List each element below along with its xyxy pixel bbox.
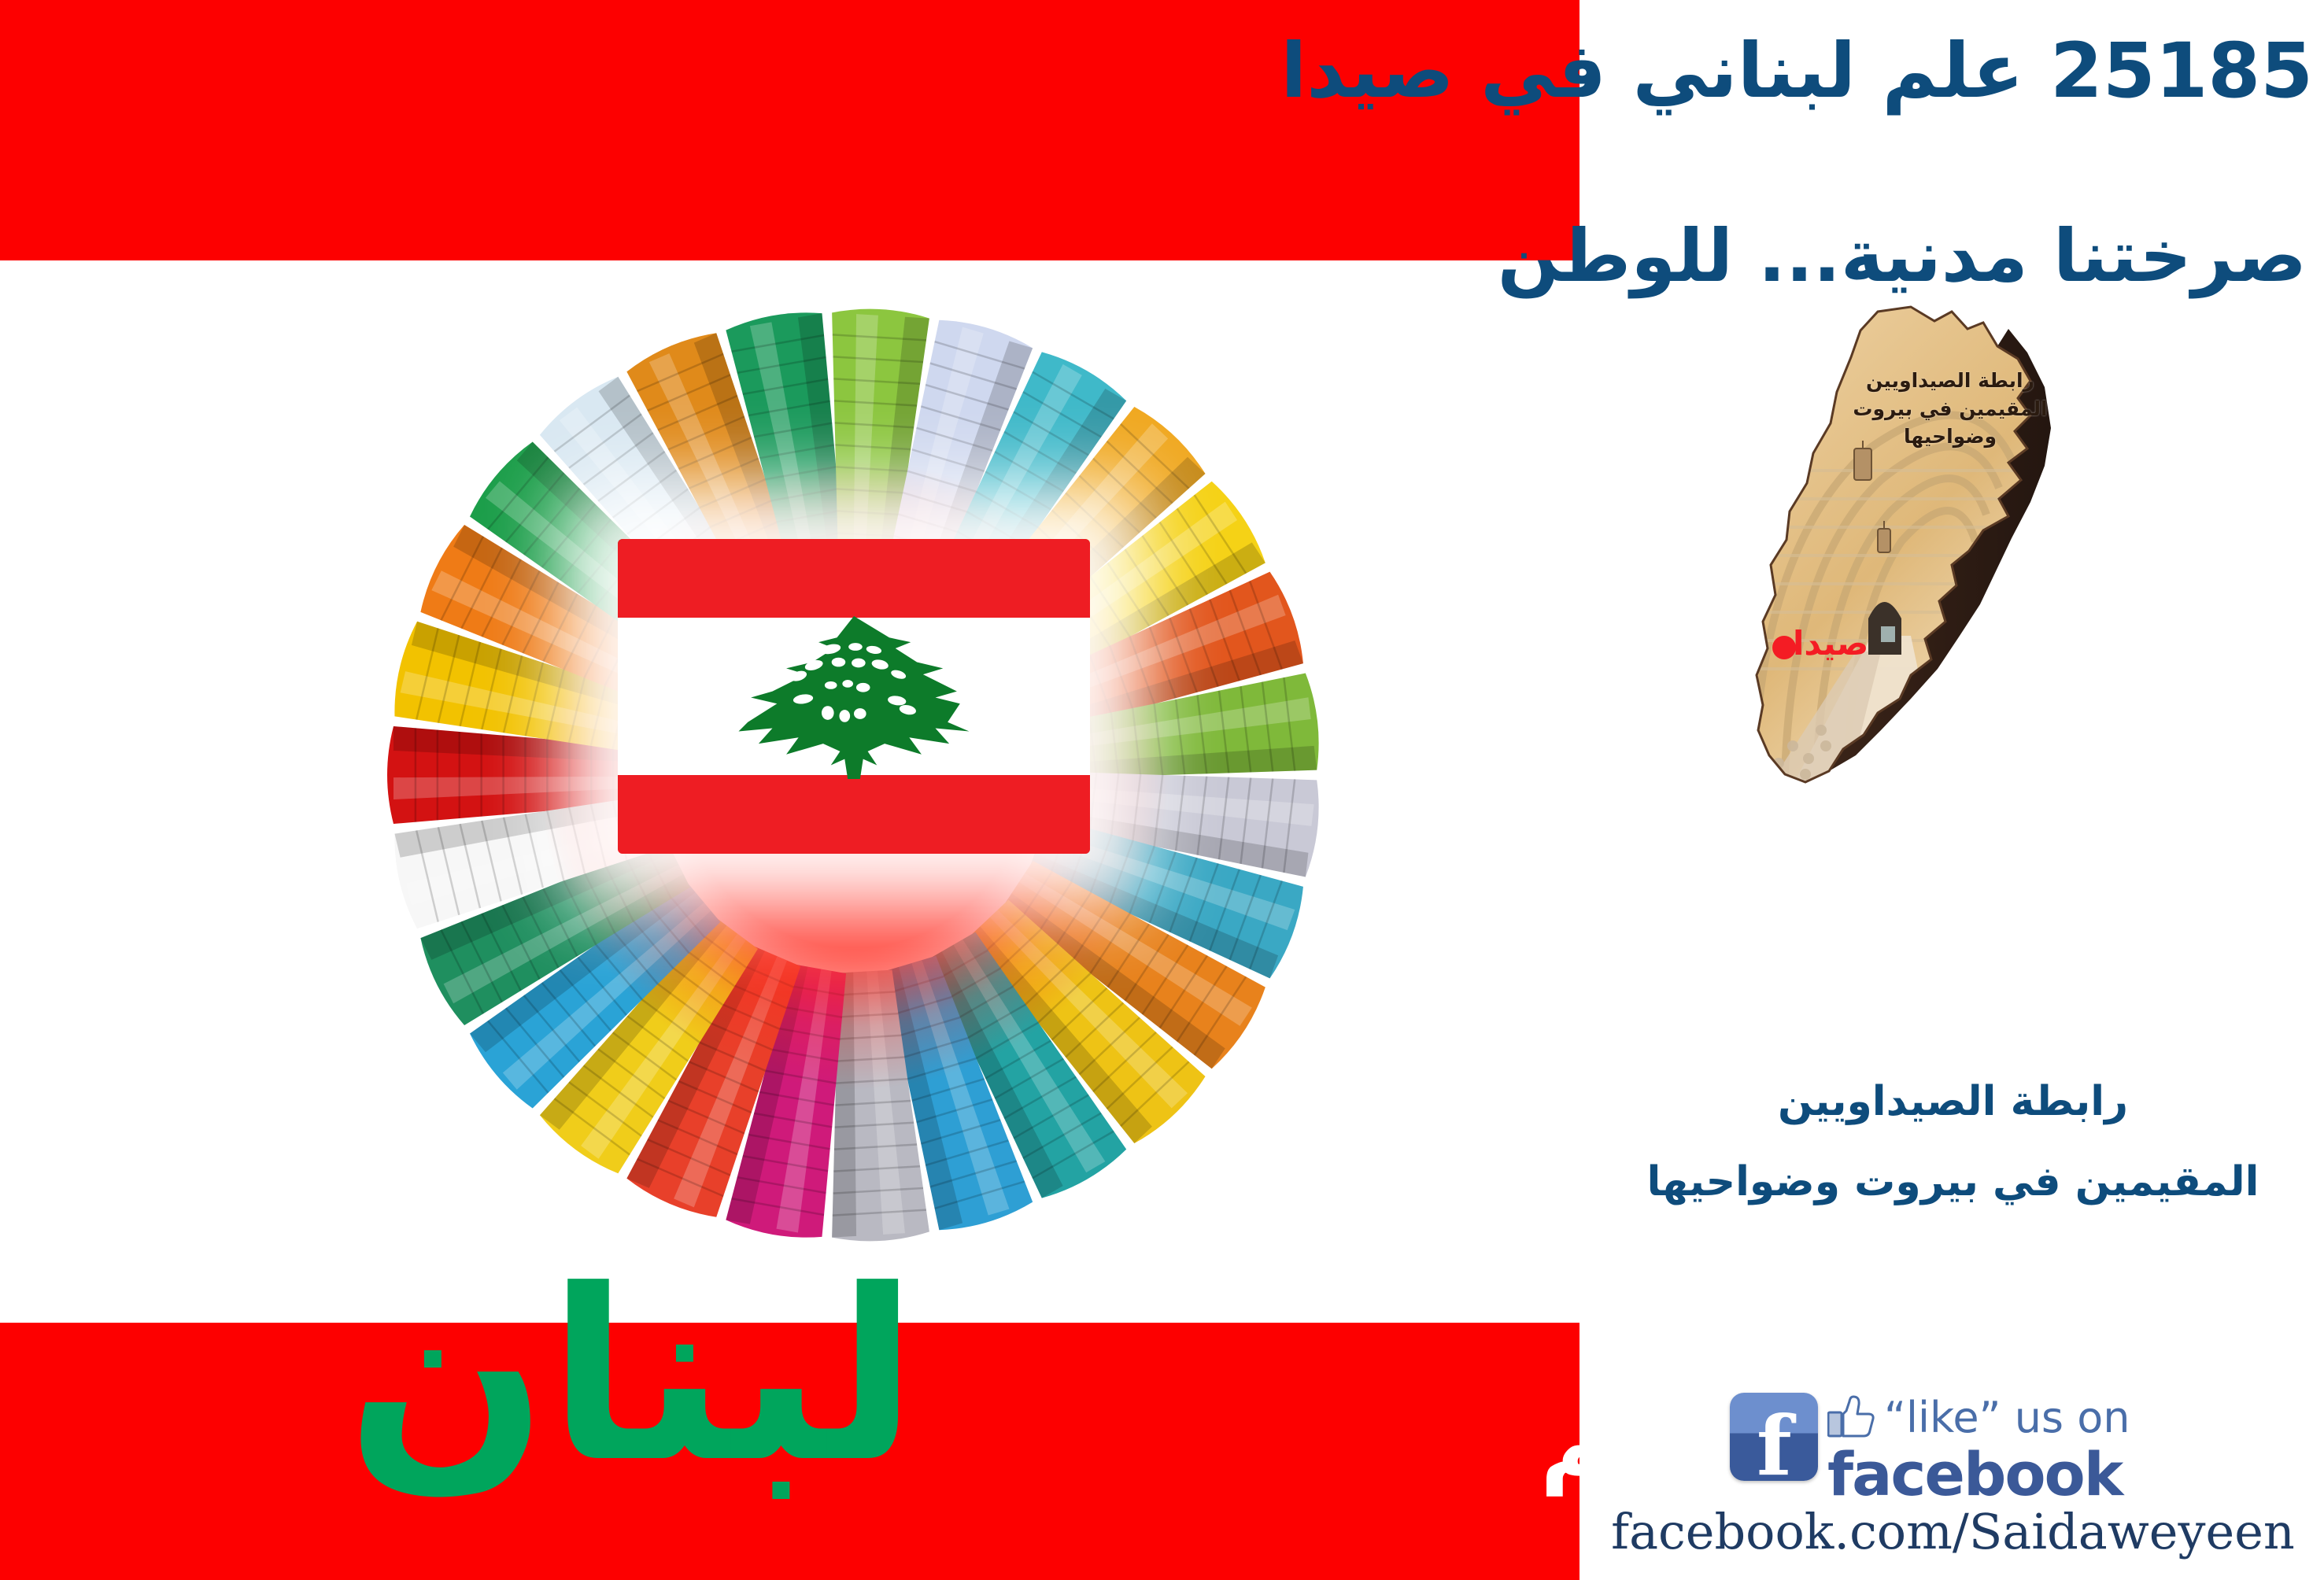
lebanon-map-logo: رابطة الصيداويين المقيمين في بيروت وضواح… <box>1675 305 2163 785</box>
map-association-text: رابطة الصيداويين المقيمين في بيروت وضواح… <box>1832 367 2068 451</box>
facebook-f-glyph: f <box>1757 1405 1792 1487</box>
organization-name-line-2: المقيمين في بيروت وضواحيها <box>1582 1158 2324 1205</box>
facebook-logo-row[interactable]: f “like” us on facebook <box>1730 1393 2130 1509</box>
facebook-like-text: “like” us on <box>1884 1393 2130 1442</box>
facebook-page-url[interactable]: facebook.com/Saidaweyeen <box>1582 1503 2324 1560</box>
flag-count-headline: 25185 علم لبناني في صيدا <box>1280 27 2313 115</box>
organization-name-line-1: رابطة الصيداويين <box>1582 1078 2324 1125</box>
center-flag-collage <box>370 291 1338 1259</box>
flag-stripe-red-top <box>618 539 1090 618</box>
cedar-tree-icon <box>736 615 972 780</box>
saida-city-label: صيدا <box>1793 624 1868 663</box>
facebook-like-row: “like” us on <box>1827 1393 2130 1442</box>
lebanese-flag <box>618 539 1090 854</box>
slogan-headline: صرختنا مدنية... للوطن <box>1498 214 2307 298</box>
flag-stripe-red-bottom <box>618 775 1090 854</box>
thumbs-up-icon <box>1827 1395 1876 1441</box>
facebook-logo-icon[interactable]: f <box>1730 1393 1818 1481</box>
lebanon-word-green: لبنان <box>346 1259 918 1495</box>
poster-root: بدنا كل الألوان <box>0 0 2324 1580</box>
facebook-cta-block[interactable]: f “like” us on facebook facebook.com/Sai… <box>1582 1393 2324 1574</box>
facebook-wordmark: facebook <box>1827 1439 2130 1509</box>
right-column: 25185 علم لبناني في صيدا صرختنا مدنية...… <box>1582 0 2324 1580</box>
facebook-text-group: “like” us on facebook <box>1827 1393 2130 1509</box>
